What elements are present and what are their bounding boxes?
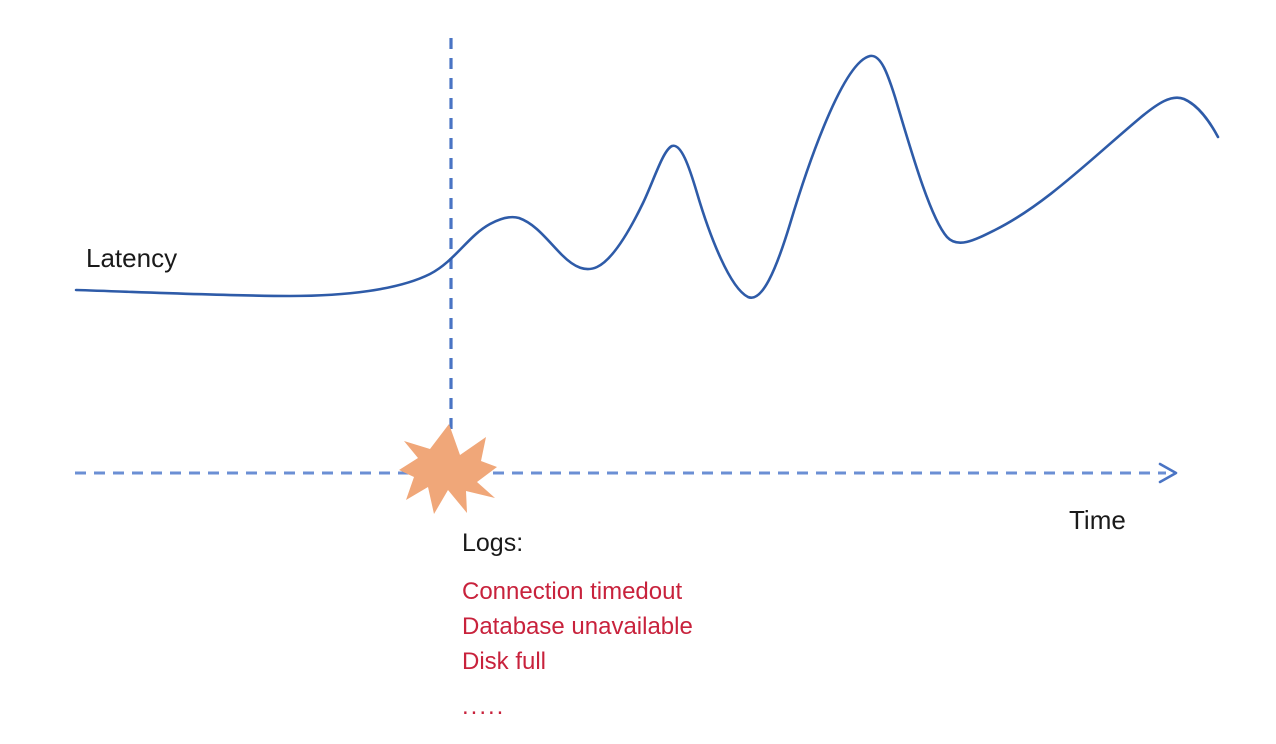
log-entry-list: Connection timedout Database unavailable… bbox=[462, 574, 882, 724]
log-entry: Disk full bbox=[462, 644, 882, 679]
log-entry-ellipsis: ..... bbox=[462, 679, 882, 724]
time-axis-label: Time bbox=[1069, 505, 1126, 535]
log-entry: Database unavailable bbox=[462, 609, 882, 644]
latency-curve bbox=[76, 56, 1218, 298]
latency-axis-label: Latency bbox=[86, 243, 177, 273]
log-entry: Connection timedout bbox=[462, 574, 882, 609]
starburst-explosion-icon bbox=[399, 424, 497, 514]
diagram-root: Latency Time Logs: Connection timedout D… bbox=[0, 0, 1276, 744]
logs-panel: Logs: Connection timedout Database unava… bbox=[462, 528, 882, 724]
logs-heading: Logs: bbox=[462, 528, 882, 558]
